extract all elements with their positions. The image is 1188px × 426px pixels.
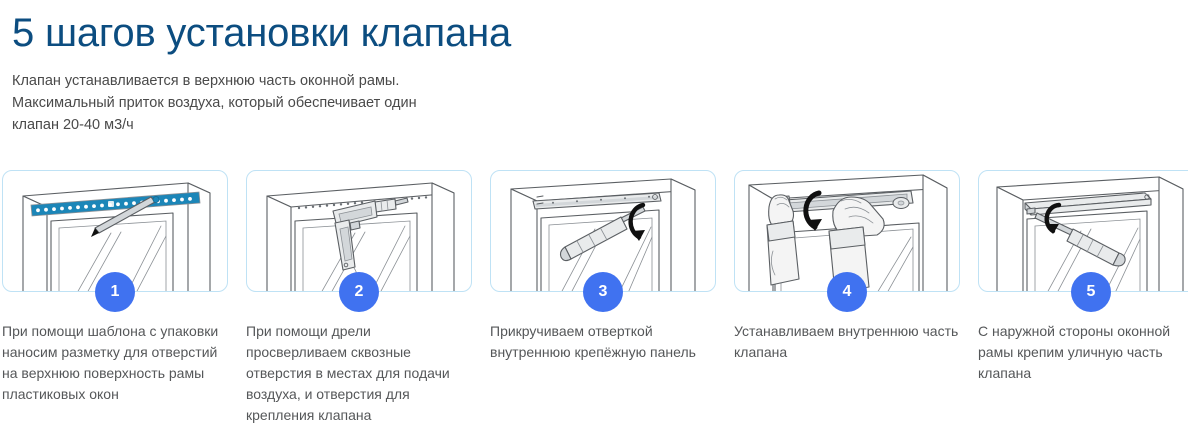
- steps-row: 1 При помощи шаблона с упаковки наносим …: [0, 170, 1188, 426]
- page-title: 5 шагов установки клапана: [12, 8, 1176, 58]
- step-caption-4: Устанавливаем внутреннюю часть клапана: [734, 321, 960, 363]
- installation-steps-page: 5 шагов установки клапана Клапан устанав…: [0, 0, 1188, 420]
- step-badge-3: 3: [583, 272, 623, 312]
- step-caption-3: Прикручиваем отверткой внутреннюю крепёж…: [490, 321, 716, 363]
- step-card-2: 2 При помощи дрели просверливаем сквозны…: [246, 170, 472, 426]
- intro-line-3: клапан 20-40 м3/ч: [12, 114, 532, 136]
- page-header: 5 шагов установки клапана Клапан устанав…: [0, 0, 1188, 136]
- intro-paragraph: Клапан устанавливается в верхнюю часть о…: [12, 70, 532, 136]
- step-caption-2: При помощи дрели просверливаем сквозные …: [246, 321, 472, 426]
- step-badge-1: 1: [95, 272, 135, 312]
- step-card-4: 4 Устанавливаем внутреннюю часть клапана: [734, 170, 960, 426]
- step-badge-4: 4: [827, 272, 867, 312]
- step-badge-5: 5: [1071, 272, 1111, 312]
- intro-line-1: Клапан устанавливается в верхнюю часть о…: [12, 70, 532, 92]
- intro-line-2: Максимальный приток воздуха, который обе…: [12, 92, 532, 114]
- step-card-5: 5 С наружной стороны оконной рамы крепим…: [978, 170, 1188, 426]
- step-badge-2: 2: [339, 272, 379, 312]
- step-card-3: 3 Прикручиваем отверткой внутреннюю креп…: [490, 170, 716, 426]
- step-caption-1: При помощи шаблона с упаковки наносим ра…: [2, 321, 228, 405]
- step-card-1: 1 При помощи шаблона с упаковки наносим …: [2, 170, 228, 426]
- step-caption-5: С наружной стороны оконной рамы крепим у…: [978, 321, 1188, 384]
